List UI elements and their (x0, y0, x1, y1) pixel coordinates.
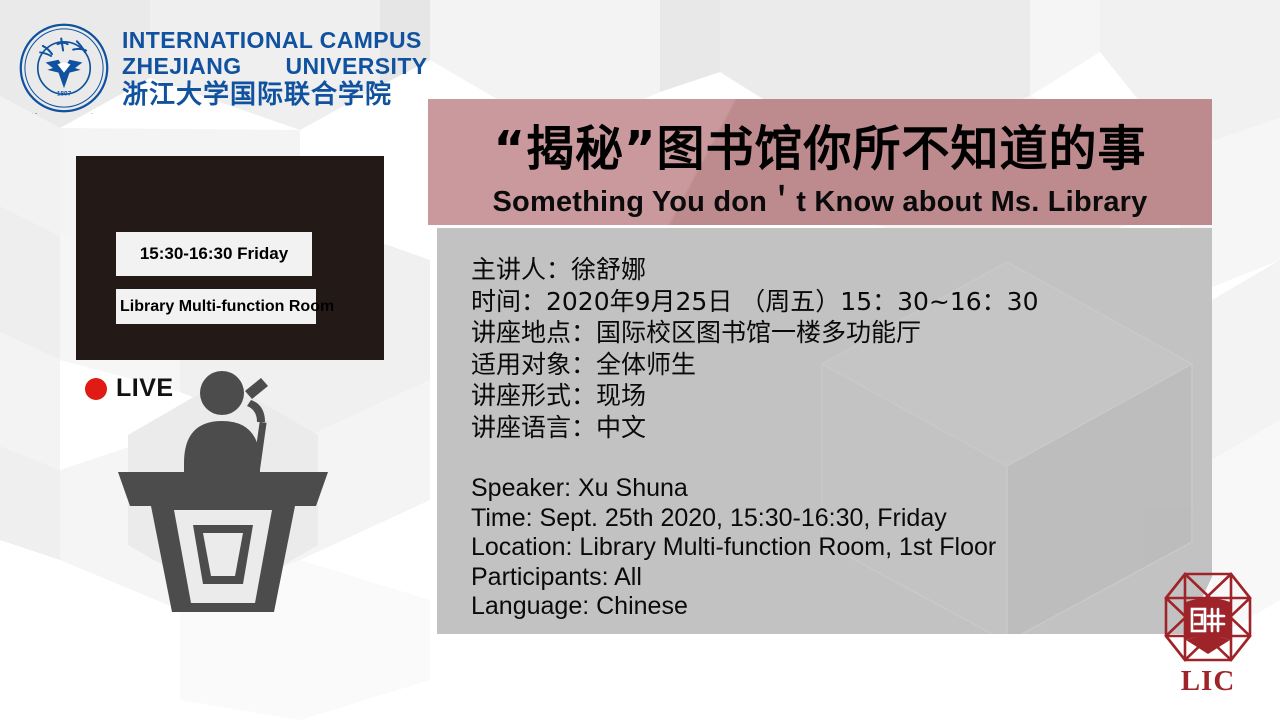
logo-wordmark: INTERNATIONAL CAMPUS ZHEJIANGUNIVERSITY … (122, 29, 428, 108)
seal-year: 1897 (57, 91, 72, 98)
detail-en-speaker: Speaker: Xu Shuna (471, 474, 1202, 504)
detail-cn-format: 讲座形式：现场 (471, 380, 1202, 412)
zhejiang-university-seal-icon: ZHEJIANG UNIVERSITY 1897 (18, 22, 110, 114)
detail-cn-language: 讲座语言：中文 (471, 412, 1202, 444)
detail-en-language: Language: Chinese (471, 592, 1202, 622)
detail-cn-location: 讲座地点：国际校区图书馆一楼多功能厅 (471, 317, 1202, 349)
lic-logo: LIC (1152, 560, 1264, 700)
poster-slide: ZHEJIANG UNIVERSITY 1897 INTERNATIONAL C… (0, 0, 1280, 720)
detail-en-location: Location: Library Multi-function Room, 1… (471, 533, 1202, 563)
logo-word-zhejiang: ZHEJIANG (122, 53, 242, 79)
title-english: Something You don＇t Know about Ms. Libra… (428, 178, 1212, 220)
speaker-podium-icon (108, 368, 338, 618)
title-chinese: “揭秘”图书馆你所不知道的事 (428, 109, 1212, 179)
details-chinese-block: 主讲人：徐舒娜 时间：2020年9月25日 （周五）15：30~16：30 讲座… (471, 254, 1202, 443)
logo-line-zhejiang-university: ZHEJIANGUNIVERSITY (122, 55, 428, 78)
schedule-panel: 15:30-16:30 Friday Library Multi-functio… (76, 156, 384, 360)
location-badge: Library Multi-function Room (116, 289, 316, 324)
logo-line-international-campus: INTERNATIONAL CAMPUS (122, 29, 428, 52)
logo-word-university: UNIVERSITY (286, 53, 428, 79)
details-text: 主讲人：徐舒娜 时间：2020年9月25日 （周五）15：30~16：30 讲座… (471, 254, 1202, 622)
detail-en-participants: Participants: All (471, 563, 1202, 593)
detail-cn-time: 时间：2020年9月25日 （周五）15：30~16：30 (471, 286, 1202, 318)
detail-en-time: Time: Sept. 25th 2020, 15:30-16:30, Frid… (471, 504, 1202, 534)
seal-ring-text: ZHEJIANG UNIVERSITY (30, 112, 99, 114)
logo-line-chinese: 浙江大学国际联合学院 (122, 82, 428, 108)
university-logo-block: ZHEJIANG UNIVERSITY 1897 INTERNATIONAL C… (18, 18, 418, 118)
lic-wordmark: LIC (1152, 665, 1264, 698)
live-dot-icon (85, 378, 107, 400)
title-banner: “揭秘”图书馆你所不知道的事 Something You don＇t Know … (428, 99, 1212, 225)
svg-text:ZHEJIANG UNIVERSITY: ZHEJIANG UNIVERSITY (30, 112, 99, 114)
detail-cn-speaker: 主讲人：徐舒娜 (471, 254, 1202, 286)
time-badge: 15:30-16:30 Friday (116, 232, 312, 276)
detail-cn-audience: 适用对象：全体师生 (471, 349, 1202, 381)
details-english-block: Speaker: Xu Shuna Time: Sept. 25th 2020,… (471, 474, 1202, 622)
details-panel: 主讲人：徐舒娜 时间：2020年9月25日 （周五）15：30~16：30 讲座… (437, 228, 1212, 634)
